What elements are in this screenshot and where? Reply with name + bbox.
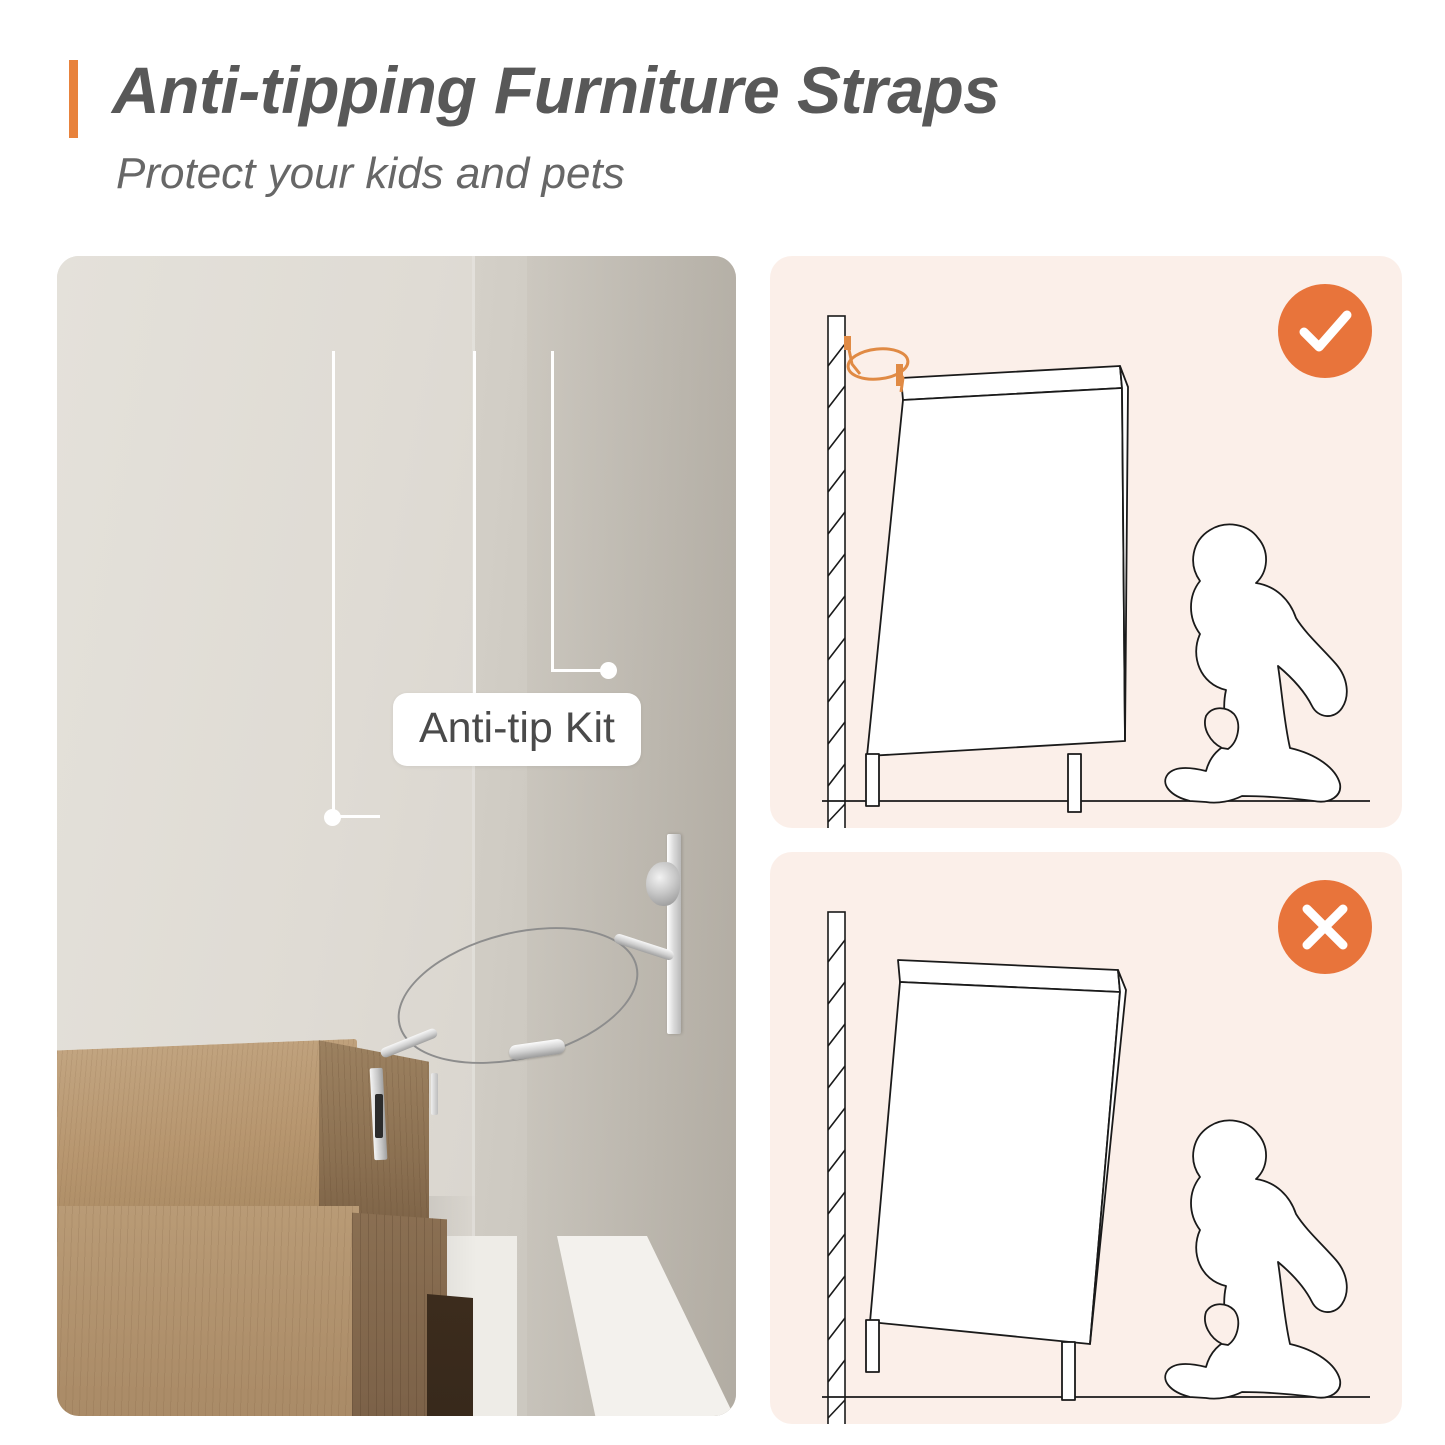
baby-silhouette [1165, 524, 1347, 802]
leader-line-middle [473, 351, 476, 703]
header: Anti-tipping Furniture Straps Protect yo… [0, 0, 1445, 240]
wall-anchor-screw [646, 862, 680, 906]
x-icon [1278, 880, 1372, 974]
leader-line-right [551, 351, 554, 671]
wood-furniture [57, 256, 457, 1416]
cabinet-tipping [866, 960, 1126, 1400]
furniture-bracket-screw [375, 1094, 383, 1138]
page-title: Anti-tipping Furniture Straps [112, 57, 999, 123]
diagram-panel-incorrect [770, 852, 1402, 1424]
cabinet [866, 366, 1128, 812]
anti-tip-strap [844, 336, 909, 392]
furniture-back-gap [427, 1294, 473, 1416]
leader-line-left [332, 351, 335, 817]
furniture-front-panel [57, 1206, 359, 1416]
product-photo-panel: Anti-tip Kit [57, 256, 736, 1416]
status-badge-correct [1278, 284, 1372, 378]
status-badge-incorrect [1278, 880, 1372, 974]
title-accent-bar [69, 60, 78, 138]
anti-tip-kit-callout: Anti-tip Kit [393, 693, 641, 766]
diagram-panel-correct [770, 256, 1402, 828]
wall-hatched [828, 912, 845, 1424]
furniture-bracket-secondary [431, 1073, 438, 1115]
wall-hatched [828, 316, 845, 828]
check-icon [1278, 284, 1372, 378]
furniture-top-surface [57, 1039, 357, 1226]
leader-dot-wall-anchor [600, 662, 617, 679]
baby-silhouette [1165, 1120, 1347, 1398]
page-subtitle: Protect your kids and pets [116, 152, 625, 196]
leader-dot-furniture-bracket [324, 809, 341, 826]
